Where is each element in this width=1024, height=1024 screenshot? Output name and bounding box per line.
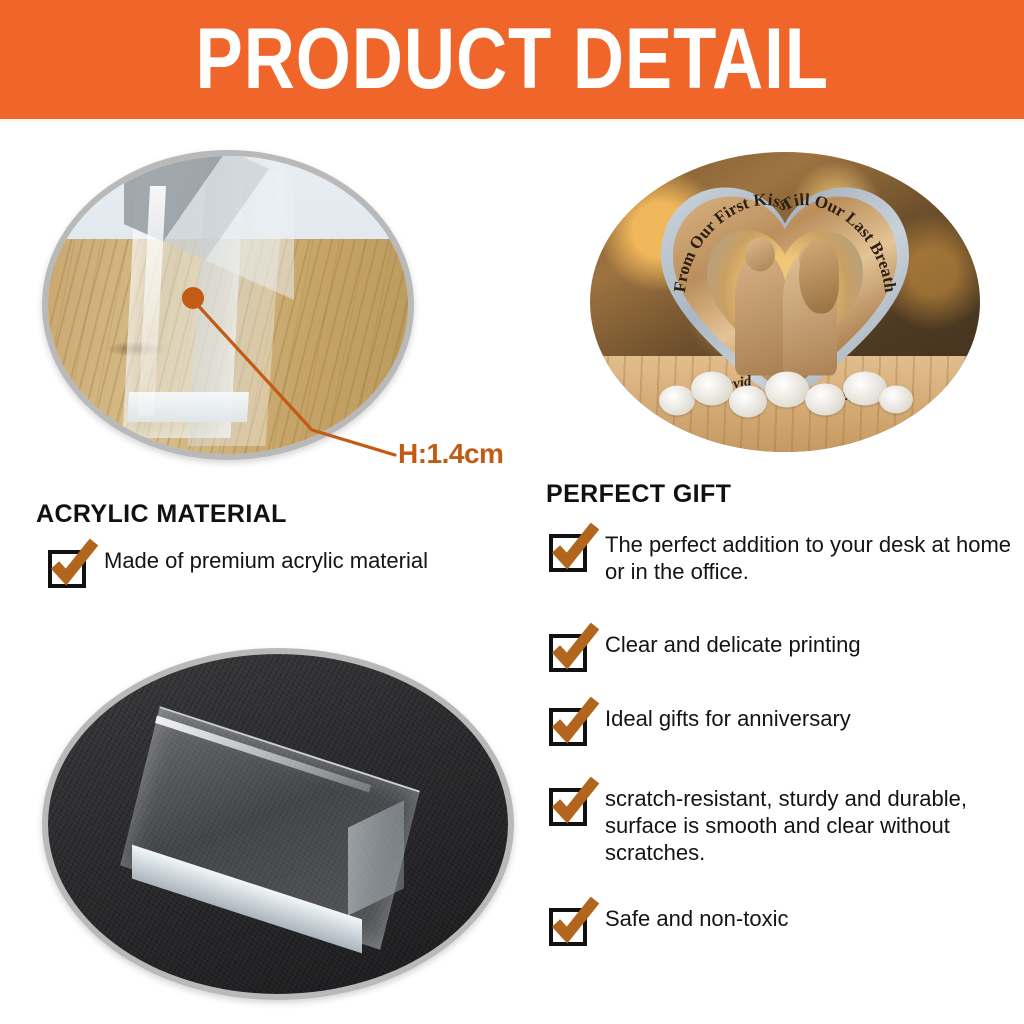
feature-label: The perfect addition to your desk at hom… [605, 532, 1015, 586]
section-title-perfect-gift: PERFECT GIFT [546, 480, 731, 509]
checkmark-icon [547, 520, 601, 574]
checkmark-icon [547, 894, 601, 948]
page-title: PRODUCT DETAIL [195, 16, 828, 102]
callout-height-label: H:1.4cm [398, 438, 503, 470]
checkbox-checked[interactable] [48, 550, 86, 588]
checkmark-icon [46, 536, 100, 590]
feature-item: Safe and non-toxic [549, 906, 788, 946]
header-banner: PRODUCT DETAIL [0, 0, 1024, 119]
feature-label: scratch-resistant, sturdy and durable, s… [605, 786, 1015, 866]
product-detail-page: PRODUCT DETAIL H:1.4cm [0, 0, 1024, 1024]
photo-acrylic-edge [42, 150, 414, 460]
feature-item: scratch-resistant, sturdy and durable, s… [549, 786, 1015, 866]
photo-acrylic-block [42, 648, 514, 1000]
feature-label: Ideal gifts for anniversary [605, 706, 851, 733]
checkbox-checked[interactable] [549, 534, 587, 572]
section-title-acrylic-material: ACRYLIC MATERIAL [36, 500, 287, 529]
checkbox-checked[interactable] [549, 908, 587, 946]
checkmark-icon [547, 774, 601, 828]
feature-item: Made of premium acrylic material [48, 548, 428, 588]
checkbox-checked[interactable] [549, 708, 587, 746]
checkbox-checked[interactable] [549, 788, 587, 826]
heart-plaque: From Our First Kiss Till Our Last Breath… [659, 183, 911, 411]
feature-label: Clear and delicate printing [605, 632, 861, 659]
checkmark-icon [547, 694, 601, 748]
engraved-quote-text: From Our First Kiss Till Our Last Breath [670, 190, 900, 294]
checkbox-checked[interactable] [549, 634, 587, 672]
feature-label: Made of premium acrylic material [104, 548, 428, 575]
decorative-flowers [653, 347, 917, 417]
checkmark-icon [547, 620, 601, 674]
banner-underline [0, 119, 1024, 125]
feature-item: Clear and delicate printing [549, 632, 861, 672]
feature-label: Safe and non-toxic [605, 906, 788, 933]
photo-heart-plaque: From Our First Kiss Till Our Last Breath… [590, 152, 980, 452]
feature-item: Ideal gifts for anniversary [549, 706, 851, 746]
feature-item: The perfect addition to your desk at hom… [549, 532, 1015, 586]
